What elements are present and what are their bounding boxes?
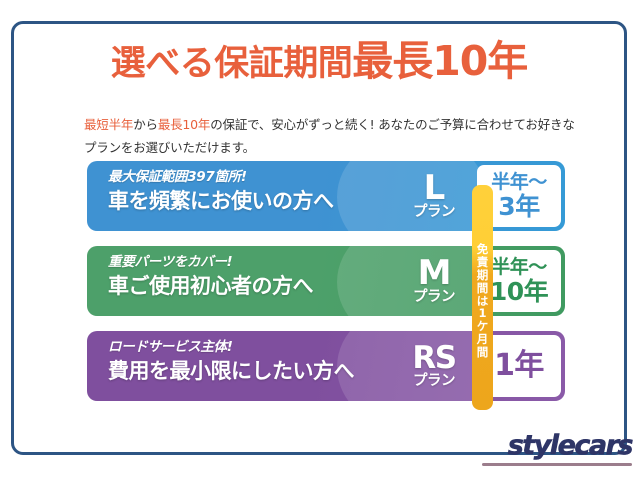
- page-title: 選べる保証期間最長10年: [14, 41, 624, 82]
- term-line-2: 10年: [490, 278, 548, 305]
- term-line-1: 半年〜: [491, 172, 547, 193]
- plan-list: 最大保証範囲397箇所! 車を頻繁にお使いの方へ L プラン 半年〜 3年 重要…: [87, 161, 565, 401]
- lede-highlight-max-term: 最長10年: [158, 117, 210, 132]
- deductible-char: 間: [472, 346, 493, 359]
- plan-row-l[interactable]: 最大保証範囲397箇所! 車を頻繁にお使いの方へ L プラン 半年〜 3年: [87, 161, 565, 231]
- plan-subtitle: ロードサービス主体!: [108, 340, 391, 355]
- plan-row-rs[interactable]: ロードサービス主体! 費用を最小限にしたい方へ RS プラン 1年: [87, 331, 565, 401]
- intro-paragraph: 最短半年から最長10年の保証で、安心がずっと続く! あなたのご予算に合わせてお好…: [84, 113, 584, 159]
- headline-emphasis: 最長10年: [352, 37, 527, 85]
- plan-headline: 車を頻繁にお使いの方へ: [108, 190, 391, 213]
- plan-letter: M: [418, 258, 451, 289]
- plan-row-m[interactable]: 重要パーツをカバー! 車ご使用初心者の方へ M プラン 半年〜 10年: [87, 246, 565, 316]
- plan-headline: 車ご使用初心者の方へ: [108, 275, 391, 298]
- deductible-char: 期: [472, 269, 493, 282]
- plan-copy-m: 重要パーツをカバー! 車ご使用初心者の方へ: [87, 246, 391, 316]
- plan-word: プラン: [413, 205, 455, 220]
- term-line-2: 3年: [498, 193, 539, 220]
- plan-badge-l: L プラン: [391, 161, 477, 231]
- term-line-2: 1年: [494, 350, 544, 382]
- headline-lead: 選べる保証期間: [111, 44, 353, 84]
- brand-underline: [482, 463, 632, 466]
- plan-badge-m: M プラン: [391, 246, 477, 316]
- deductible-char: 責: [472, 256, 493, 269]
- plan-word: プラン: [413, 290, 455, 305]
- deductible-char: 免: [472, 243, 493, 256]
- lede-highlight-min-term: 最短半年: [84, 117, 133, 132]
- lede-connector: から: [133, 117, 158, 132]
- plan-copy-l: 最大保証範囲397箇所! 車を頻繁にお使いの方へ: [87, 161, 391, 231]
- deductible-char: 間: [472, 282, 493, 295]
- brand-logo: stylecars: [482, 432, 632, 472]
- plan-copy-rs: ロードサービス主体! 費用を最小限にしたい方へ: [87, 331, 391, 401]
- plan-headline: 費用を最小限にしたい方へ: [108, 360, 391, 383]
- brand-wordmark: stylecars: [482, 432, 632, 459]
- term-line-1: 半年〜: [491, 257, 547, 278]
- plan-letter: L: [424, 173, 445, 204]
- advertisement-frame: 選べる保証期間最長10年 最短半年から最長10年の保証で、安心がずっと続く! あ…: [11, 21, 627, 455]
- plan-subtitle: 重要パーツをカバー!: [108, 255, 391, 270]
- deductible-period-band: 免責期間は1ケ月間: [472, 185, 493, 410]
- plan-word: プラン: [413, 374, 455, 389]
- plan-badge-rs: RS プラン: [391, 331, 477, 401]
- plan-subtitle: 最大保証範囲397箇所!: [108, 170, 391, 185]
- plan-letter: RS: [412, 344, 455, 373]
